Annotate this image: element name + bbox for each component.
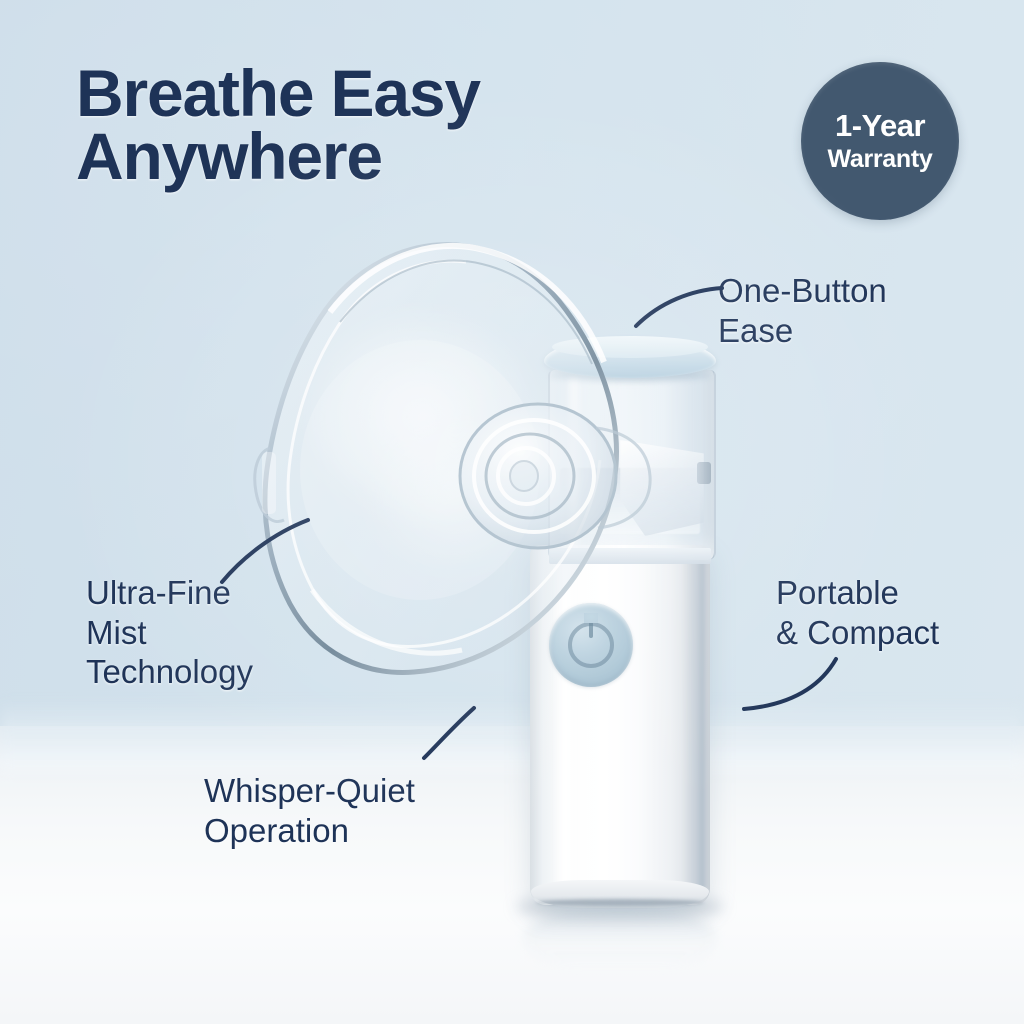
mask-strap-slot (262, 452, 276, 514)
callout-ultra-fine-mist: Ultra-Fine Mist Technology (86, 573, 253, 692)
arrow-to-mask (214, 506, 324, 586)
arrow-to-device-lower (420, 700, 500, 762)
arrow-to-cap (620, 282, 730, 342)
warranty-badge-term: 1-Year (835, 110, 925, 141)
mask-connector (460, 404, 616, 548)
callout-one-button-ease: One-Button Ease (718, 271, 887, 350)
callout-portable-compact: Portable & Compact (776, 573, 939, 652)
warranty-badge-label: Warranty (827, 147, 932, 172)
callout-whisper-quiet: Whisper-Quiet Operation (204, 771, 415, 850)
warranty-badge: 1-Year Warranty (801, 62, 959, 220)
arrow-to-body (724, 655, 844, 717)
infographic-canvas: Breathe Easy Anywhere 1-Year Warranty On… (0, 0, 1024, 1024)
page-title: Breathe Easy Anywhere (76, 62, 696, 187)
